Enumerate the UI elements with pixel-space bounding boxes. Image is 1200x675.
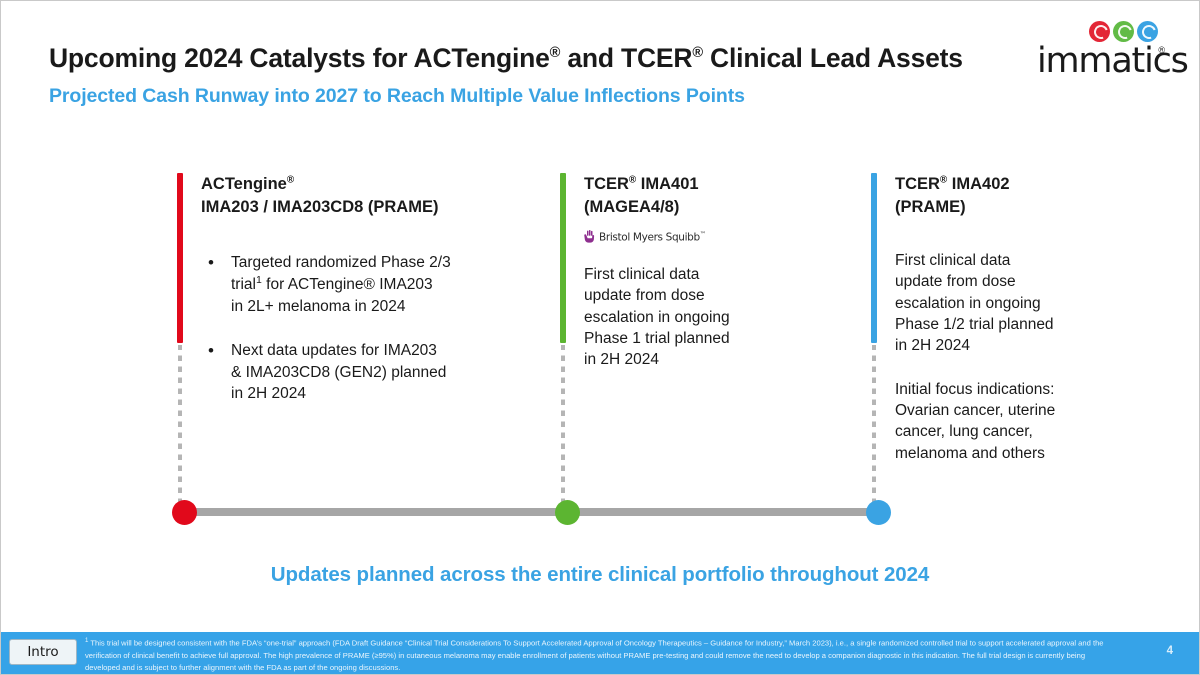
timeline-node-green[interactable] bbox=[555, 500, 580, 525]
column-dotted-connector bbox=[872, 345, 876, 509]
column-body-text: First clinical data update from dose esc… bbox=[584, 264, 730, 371]
page-title-part-3: Clinical Lead Assets bbox=[703, 43, 963, 73]
column-accent-bar-red bbox=[177, 173, 183, 343]
column-heading-line2: (MAGEA4/8) bbox=[584, 198, 679, 216]
timeline-bar bbox=[191, 508, 881, 516]
column-heading-line1-post: IMA402 bbox=[947, 175, 1009, 193]
timeline-node-blue[interactable] bbox=[866, 500, 891, 525]
page-title-part-1: Upcoming 2024 Catalysts for ACTengine bbox=[49, 43, 550, 73]
column-heading-line1: ACTengine bbox=[201, 175, 287, 193]
registered-mark-icon: ® bbox=[287, 175, 294, 186]
column-heading-line1-post: IMA401 bbox=[636, 175, 698, 193]
logo-dots bbox=[1089, 21, 1158, 42]
column-heading-line1-pre: TCER bbox=[584, 175, 629, 193]
column-heading-line1-pre: TCER bbox=[895, 175, 940, 193]
timeline-node-red[interactable] bbox=[172, 500, 197, 525]
column-heading: ACTengine® IMA203 / IMA203CD8 (PRAME) bbox=[201, 173, 451, 220]
bullet-text-post: for ACTengine® IMA203 in 2L+ melanoma in… bbox=[231, 276, 433, 314]
column-accent-bar-blue bbox=[871, 173, 877, 343]
logo-wordmark: immatics bbox=[1037, 41, 1188, 81]
partner-name-text: Bristol Myers Squibb bbox=[599, 231, 700, 243]
list-item: Next data updates for IMA203 & IMA203CD8… bbox=[201, 340, 451, 404]
page-number: 4 bbox=[1167, 645, 1173, 657]
column-body: ACTengine® IMA203 / IMA203CD8 (PRAME) Ta… bbox=[201, 173, 451, 404]
partner-logo-bristol-myers-squibb: Bristol Myers Squibb™ bbox=[584, 230, 730, 244]
page-title-part-2: and TCER bbox=[560, 43, 692, 73]
column-body-text-secondary: Initial focus indications: Ovarian cance… bbox=[895, 379, 1055, 465]
tab-intro[interactable]: Intro bbox=[9, 639, 77, 665]
logo-dot-blue-icon bbox=[1137, 21, 1158, 42]
partner-trademark: ™ bbox=[700, 231, 706, 238]
column-accent-bar-green bbox=[560, 173, 566, 343]
registered-mark-actengine: ® bbox=[550, 45, 561, 61]
column-heading: TCER® IMA402 (PRAME) bbox=[895, 173, 1055, 220]
logo-registered-mark: ® bbox=[1158, 45, 1165, 55]
column-heading-line2: IMA203 / IMA203CD8 (PRAME) bbox=[201, 198, 438, 216]
footnote-body: This trial will be designed consistent w… bbox=[85, 639, 1104, 673]
column-body-text: First clinical data update from dose esc… bbox=[895, 250, 1055, 357]
registered-mark-tcer: ® bbox=[692, 45, 703, 61]
immatics-logo: immatics ® bbox=[1037, 21, 1169, 83]
bullet-text-pre: Next data updates for IMA203 & IMA203CD8… bbox=[231, 342, 446, 402]
partner-name: Bristol Myers Squibb™ bbox=[599, 231, 706, 244]
column-dotted-connector bbox=[561, 345, 565, 509]
column-heading: TCER® IMA401 (MAGEA4/8) bbox=[584, 173, 730, 220]
column-body: TCER® IMA401 (MAGEA4/8) Bristol Myers Sq… bbox=[584, 173, 730, 371]
column-dotted-connector bbox=[178, 345, 182, 509]
slide: Upcoming 2024 Catalysts for ACTengine® a… bbox=[0, 0, 1200, 675]
column-heading-line2: (PRAME) bbox=[895, 198, 966, 216]
logo-dot-green-icon bbox=[1113, 21, 1134, 42]
page-subtitle: Projected Cash Runway into 2027 to Reach… bbox=[49, 85, 745, 108]
closing-statement: Updates planned across the entire clinic… bbox=[1, 563, 1199, 587]
list-item: Targeted randomized Phase 2/3 trial1 for… bbox=[201, 252, 451, 317]
page-title: Upcoming 2024 Catalysts for ACTengine® a… bbox=[49, 43, 963, 74]
bullet-list: Targeted randomized Phase 2/3 trial1 for… bbox=[201, 252, 451, 404]
footnote-text: 1 This trial will be designed consistent… bbox=[85, 636, 1105, 674]
bristol-myers-squibb-mark-icon bbox=[584, 230, 595, 243]
column-body: TCER® IMA402 (PRAME) First clinical data… bbox=[895, 173, 1055, 464]
footer-bar: Intro 1 This trial will be designed cons… bbox=[1, 632, 1200, 674]
logo-dot-red-icon bbox=[1089, 21, 1110, 42]
